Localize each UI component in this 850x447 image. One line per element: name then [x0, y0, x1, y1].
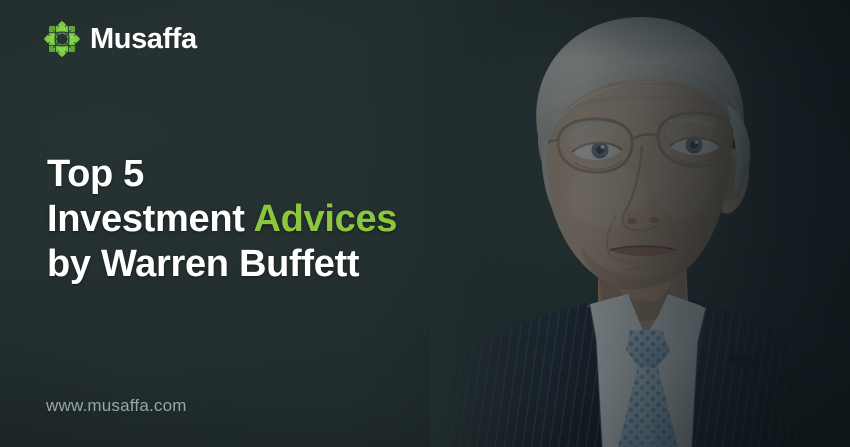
headline-line-2: Investment Advices [47, 197, 397, 242]
headline-accent-word: Advices [253, 198, 397, 240]
headline-line-3: by Warren Buffett [47, 242, 397, 287]
headline-line-1: Top 5 [47, 152, 397, 197]
brand-name: Musaffa [90, 25, 197, 54]
promo-banner: Musaffa Top 5 Investment Advices by Warr… [0, 0, 850, 447]
page-title: Top 5 Investment Advices by Warren Buffe… [47, 152, 397, 287]
headline-line-2-plain: Investment [47, 198, 253, 240]
brand-logo[interactable]: Musaffa [44, 21, 197, 57]
musaffa-rosette-icon [44, 21, 80, 57]
website-url[interactable]: www.musaffa.com [46, 396, 187, 416]
right-shadow-overlay [357, 0, 850, 447]
